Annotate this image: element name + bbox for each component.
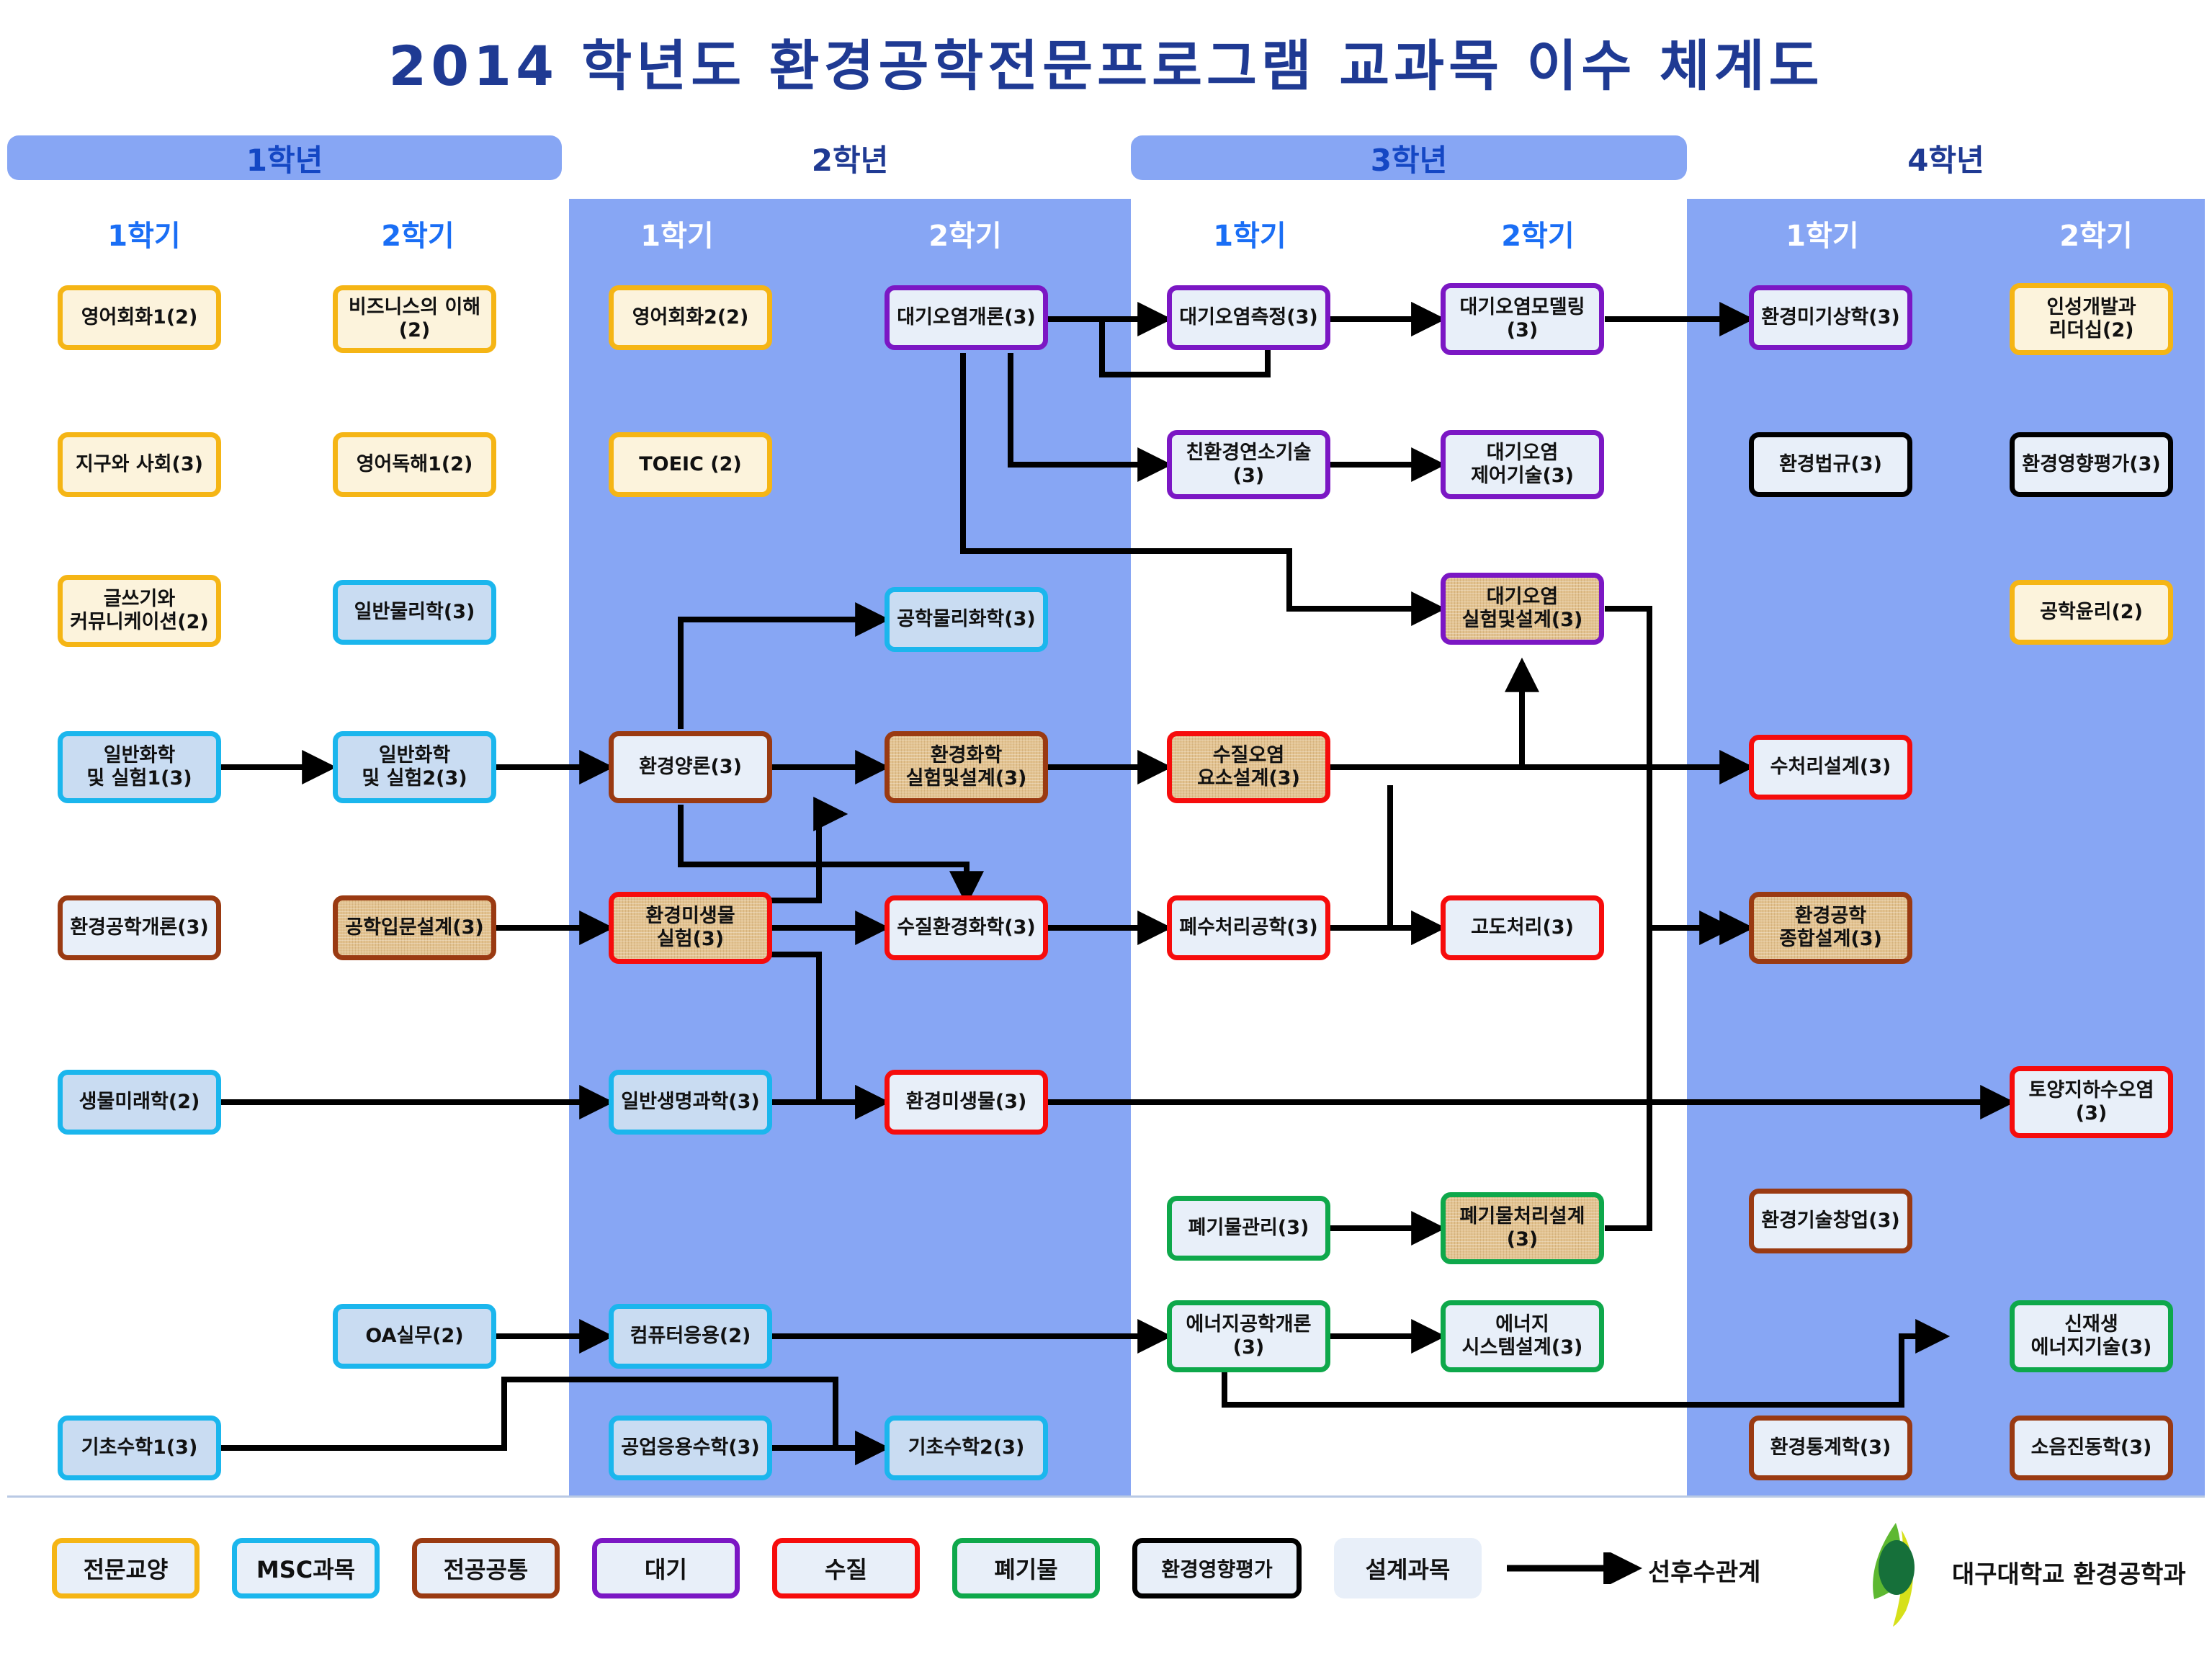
- course-box[interactable]: 환경통계학(3): [1749, 1416, 1912, 1480]
- course-box[interactable]: 인성개발과 리더십(2): [2010, 283, 2173, 355]
- course-box[interactable]: 공업응용수학(3): [609, 1416, 772, 1480]
- year-band-3: 3학년: [1131, 135, 1687, 180]
- course-box[interactable]: 공학윤리(2): [2010, 580, 2173, 645]
- legend-item-pyegimul: 폐기물: [952, 1538, 1100, 1598]
- course-box[interactable]: 글쓰기와 커뮤니케이션(2): [58, 575, 221, 647]
- course-box[interactable]: 환경공학개론(3): [58, 895, 221, 960]
- course-box[interactable]: 수질환경화학(3): [885, 895, 1048, 960]
- legend-arrow-label: 선후수관계: [1648, 1552, 1760, 1588]
- course-label: 대기오염모델링 (3): [1460, 296, 1585, 342]
- legend-item-hwangyeong-yeonghyang-pyeongga: 환경영향평가: [1132, 1538, 1302, 1598]
- course-label: 환경통계학(3): [1770, 1436, 1891, 1459]
- course-label: 기초수학2(3): [908, 1436, 1025, 1459]
- course-label: 에너지공학개론 (3): [1186, 1313, 1312, 1359]
- course-box[interactable]: 환경기술창업(3): [1749, 1189, 1912, 1253]
- course-box[interactable]: 폐기물관리(3): [1167, 1196, 1330, 1261]
- course-label: 토양지하수오염 (3): [2029, 1079, 2154, 1125]
- course-box[interactable]: 공학입문설계(3): [333, 895, 496, 960]
- course-box[interactable]: 에너지공학개론 (3): [1167, 1300, 1330, 1372]
- page-title: 2014 학년도 환경공학전문프로그램 교과목 이수 체계도: [0, 22, 2212, 101]
- course-label: 대기오염측정(3): [1179, 306, 1318, 329]
- university-logo-icon: [1851, 1520, 1938, 1628]
- semester-label-y4s2: 2학기: [1988, 213, 2204, 254]
- course-label: 글쓰기와 커뮤니케이션(2): [70, 588, 209, 634]
- course-label: 대기오염 실험및설계(3): [1462, 586, 1583, 632]
- course-box[interactable]: 대기오염모델링 (3): [1441, 283, 1604, 355]
- semester-label-y1s1: 1학기: [36, 213, 252, 254]
- course-label: 환경미생물 실험(3): [645, 905, 735, 951]
- course-label: 지구와 사회(3): [76, 453, 203, 476]
- course-label: 수처리설계(3): [1770, 756, 1891, 779]
- semester-label-y2s2: 2학기: [857, 213, 1073, 254]
- course-label: 폐수처리공학(3): [1179, 916, 1318, 939]
- course-label: 공업응용수학(3): [621, 1436, 760, 1459]
- course-box[interactable]: 폐기물처리설계 (3): [1441, 1192, 1604, 1264]
- course-label: 일반물리학(3): [354, 601, 475, 624]
- course-label: 공학물리화학(3): [897, 608, 1036, 631]
- course-label: 환경공학개론(3): [70, 916, 209, 939]
- course-label: 신재생 에너지기술(3): [2031, 1313, 2152, 1359]
- course-box[interactable]: 환경화학 실험및설계(3): [885, 731, 1048, 803]
- year-band-2-label: 2학년: [812, 136, 889, 180]
- course-label: 환경법규(3): [1779, 453, 1882, 476]
- year-band-1: 1학년: [7, 135, 562, 180]
- course-label: 폐기물처리설계 (3): [1460, 1205, 1585, 1251]
- course-box[interactable]: 환경미생물(3): [885, 1070, 1048, 1135]
- legend-label: 전공공통: [444, 1552, 529, 1585]
- legend-label: 설계과목: [1366, 1552, 1451, 1585]
- year2-column-shade: [569, 199, 1131, 1495]
- course-box[interactable]: 기초수학1(3): [58, 1416, 221, 1480]
- course-label: 환경미기상학(3): [1761, 306, 1900, 329]
- course-label: 일반생명과학(3): [621, 1091, 760, 1114]
- course-box[interactable]: 고도처리(3): [1441, 895, 1604, 960]
- legend-label: 폐기물: [994, 1552, 1057, 1585]
- course-label: 대기오염개론(3): [897, 306, 1036, 329]
- course-label: 영어독해1(2): [357, 453, 473, 476]
- course-label: 환경영향평가(3): [2022, 453, 2161, 476]
- course-box[interactable]: 일반화학 및 실험1(3): [58, 731, 221, 803]
- course-box[interactable]: 수질오염 요소설계(3): [1167, 731, 1330, 803]
- course-label: TOEIC (2): [639, 453, 742, 476]
- legend-label: 환경영향평가: [1161, 1554, 1273, 1583]
- course-box[interactable]: 대기오염개론(3): [885, 285, 1048, 350]
- course-box[interactable]: 대기오염 실험및설계(3): [1441, 573, 1604, 645]
- course-label: 환경공학 종합설계(3): [1779, 905, 1882, 951]
- course-box[interactable]: 지구와 사회(3): [58, 432, 221, 497]
- university-department-name: 대구대학교 환경공학과: [1952, 1555, 2186, 1590]
- legend-item-sujil: 수질: [772, 1538, 920, 1598]
- course-box[interactable]: 비즈니스의 이해 (2): [333, 285, 496, 353]
- year-band-4: 4학년: [1687, 135, 2205, 180]
- course-box[interactable]: 환경공학 종합설계(3): [1749, 892, 1912, 964]
- course-box[interactable]: 일반화학 및 실험2(3): [333, 731, 496, 803]
- course-label: 환경화학 실험및설계(3): [906, 744, 1027, 790]
- legend-item-design-course: 설계과목: [1334, 1538, 1482, 1598]
- course-box[interactable]: 폐수처리공학(3): [1167, 895, 1330, 960]
- course-label: 환경기술창업(3): [1761, 1209, 1900, 1233]
- course-label: 인성개발과 리더십(2): [2046, 296, 2136, 342]
- course-box[interactable]: 소음진동학(3): [2010, 1416, 2173, 1480]
- legend-arrow-icon: [1505, 1552, 1642, 1584]
- course-box[interactable]: 일반생명과학(3): [609, 1070, 772, 1135]
- course-box[interactable]: 환경영향평가(3): [2010, 432, 2173, 497]
- year-band-1-label: 1학년: [246, 136, 323, 180]
- course-label: 일반화학 및 실험1(3): [86, 744, 192, 790]
- course-label: 소음진동학(3): [2031, 1436, 2152, 1459]
- course-box[interactable]: 공학물리화학(3): [885, 587, 1048, 652]
- course-label: 일반화학 및 실험2(3): [362, 744, 467, 790]
- course-box[interactable]: 대기오염측정(3): [1167, 285, 1330, 350]
- year-band-3-label: 3학년: [1371, 136, 1448, 180]
- course-label: 친환경연소기술 (3): [1186, 442, 1312, 488]
- course-label: 수질환경화학(3): [897, 916, 1036, 939]
- legend-item-daegi: 대기: [592, 1538, 740, 1598]
- course-box[interactable]: 일반물리학(3): [333, 580, 496, 645]
- semester-label-y2s1: 1학기: [569, 213, 785, 254]
- course-box[interactable]: 영어회화1(2): [58, 285, 221, 350]
- course-label: 에너지 시스템설계(3): [1462, 1313, 1583, 1359]
- semester-label-y1s2: 2학기: [310, 213, 526, 254]
- course-label: 영어회화2(2): [632, 306, 749, 329]
- legend-label: 대기: [645, 1552, 687, 1585]
- course-label: 고도처리(3): [1471, 916, 1574, 939]
- legend-label: MSC과목: [256, 1552, 355, 1585]
- legend-divider: [7, 1495, 2205, 1498]
- course-box[interactable]: 환경법규(3): [1749, 432, 1912, 497]
- course-label: 폐기물관리(3): [1188, 1217, 1309, 1240]
- course-box[interactable]: OA실무(2): [333, 1304, 496, 1369]
- course-box[interactable]: 대기오염 제어기술(3): [1441, 430, 1604, 499]
- course-label: 공학입문설계(3): [345, 916, 484, 939]
- semester-label-y4s1: 1학기: [1714, 213, 1930, 254]
- course-label: 환경미생물(3): [906, 1091, 1027, 1114]
- course-label: 기초수학1(3): [81, 1436, 198, 1459]
- course-box[interactable]: 환경양론(3): [609, 731, 772, 803]
- course-label: 수질오염 요소설계(3): [1197, 744, 1300, 790]
- semester-label-y3s2: 2학기: [1430, 213, 1646, 254]
- course-box[interactable]: 컴퓨터응용(2): [609, 1304, 772, 1369]
- legend-label: 전문교양: [84, 1552, 169, 1585]
- year-band-4-label: 4학년: [1907, 136, 1984, 180]
- course-box[interactable]: 기초수학2(3): [885, 1416, 1048, 1480]
- course-box[interactable]: 친환경연소기술 (3): [1167, 430, 1330, 499]
- course-box[interactable]: 환경미기상학(3): [1749, 285, 1912, 350]
- course-label: 생물미래학(2): [79, 1091, 200, 1114]
- course-label: 컴퓨터응용(2): [630, 1325, 751, 1348]
- course-label: 환경양론(3): [639, 756, 742, 779]
- legend-item-msc: MSC과목: [232, 1538, 380, 1598]
- course-box[interactable]: 영어회화2(2): [609, 285, 772, 350]
- course-label: OA실무(2): [365, 1325, 463, 1348]
- course-label: 공학윤리(2): [2040, 601, 2143, 624]
- legend-item-gongtong: 전공공통: [412, 1538, 560, 1598]
- course-box[interactable]: 환경미생물 실험(3): [609, 892, 772, 964]
- course-box[interactable]: 수처리설계(3): [1749, 735, 1912, 800]
- course-label: 영어회화1(2): [81, 306, 198, 329]
- course-box[interactable]: 에너지 시스템설계(3): [1441, 1300, 1604, 1372]
- course-box[interactable]: 영어독해1(2): [333, 432, 496, 497]
- course-box[interactable]: TOEIC (2): [609, 432, 772, 497]
- legend-item-gyoyang: 전문교양: [52, 1538, 200, 1598]
- semester-label-y3s1: 1학기: [1142, 213, 1358, 254]
- course-box[interactable]: 생물미래학(2): [58, 1070, 221, 1135]
- course-box[interactable]: 토양지하수오염 (3): [2010, 1066, 2173, 1138]
- course-box[interactable]: 신재생 에너지기술(3): [2010, 1300, 2173, 1372]
- legend-label: 수질: [825, 1552, 867, 1585]
- year-band-2: 2학년: [569, 135, 1131, 180]
- course-label: 대기오염 제어기술(3): [1471, 442, 1574, 488]
- course-label: 비즈니스의 이해 (2): [349, 296, 480, 342]
